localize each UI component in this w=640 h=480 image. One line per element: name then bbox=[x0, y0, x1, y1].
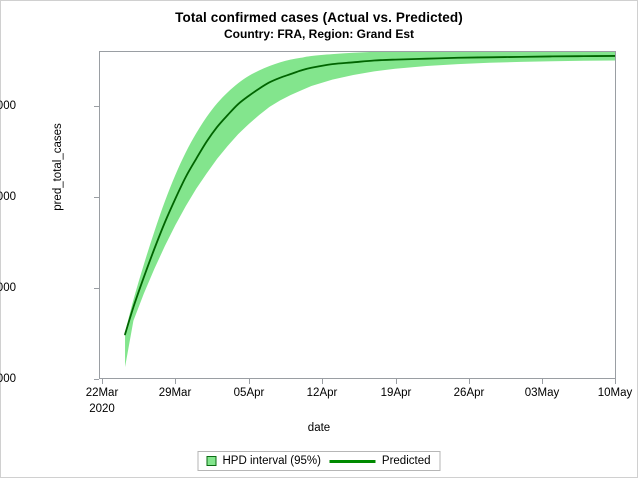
chart-canvas: Total confirmed cases (Actual vs. Predic… bbox=[0, 0, 638, 478]
page-title: Total confirmed cases (Actual vs. Predic… bbox=[1, 9, 637, 26]
legend-swatch-icon bbox=[206, 456, 216, 466]
x-tick-mark bbox=[322, 379, 323, 384]
x-tick-mark bbox=[102, 379, 103, 384]
legend-label-predicted: Predicted bbox=[382, 455, 431, 467]
x-tick-label-22mar: 22Mar bbox=[62, 387, 142, 399]
y-tick-label-5000000: 5000000 bbox=[0, 100, 16, 112]
x-tick-mark bbox=[542, 379, 543, 384]
x-axis-title: date bbox=[1, 422, 637, 434]
plot-svg bbox=[100, 52, 615, 378]
x-tick-label-03may: 03May bbox=[502, 387, 582, 399]
plot-area bbox=[99, 51, 616, 379]
x-tick-label-10may: 10May bbox=[575, 387, 640, 399]
x-tick-mark bbox=[396, 379, 397, 384]
y-tick-label-4000000: 4000000 bbox=[0, 191, 16, 203]
x-tick-label-05apr: 05Apr bbox=[209, 387, 289, 399]
y-tick-mark bbox=[94, 379, 99, 380]
x-tick-mark bbox=[469, 379, 470, 384]
x-tick-label-26apr: 26Apr bbox=[429, 387, 509, 399]
y-axis-title: pred_total_cases bbox=[52, 67, 64, 267]
page-subtitle: Country: FRA, Region: Grand Est bbox=[1, 26, 637, 42]
legend-item-hpd-interval[interactable]: HPD interval (95%) bbox=[206, 455, 320, 467]
x-tick-label-19apr: 19Apr bbox=[356, 387, 436, 399]
legend-label-hpd-interval: HPD interval (95%) bbox=[222, 455, 320, 467]
predicted-line bbox=[125, 56, 615, 334]
hpd-interval-band bbox=[125, 52, 615, 367]
title-block: Total confirmed cases (Actual vs. Predic… bbox=[1, 9, 637, 42]
y-tick-label-3000000: 3000000 bbox=[0, 282, 16, 294]
legend-line-icon bbox=[330, 460, 376, 463]
x-tick-label-29mar: 29Mar bbox=[135, 387, 215, 399]
legend-item-predicted[interactable]: Predicted bbox=[330, 455, 431, 467]
x-tick-mark bbox=[175, 379, 176, 384]
x-tick-label-12apr: 12Apr bbox=[282, 387, 362, 399]
x-tick-mark bbox=[615, 379, 616, 384]
x-tick-sublabel-year: 2020 bbox=[62, 403, 142, 415]
y-tick-label-2000000: 2000000 bbox=[0, 373, 16, 385]
x-tick-mark bbox=[249, 379, 250, 384]
chart-legend[interactable]: HPD interval (95%) Predicted bbox=[197, 451, 440, 471]
